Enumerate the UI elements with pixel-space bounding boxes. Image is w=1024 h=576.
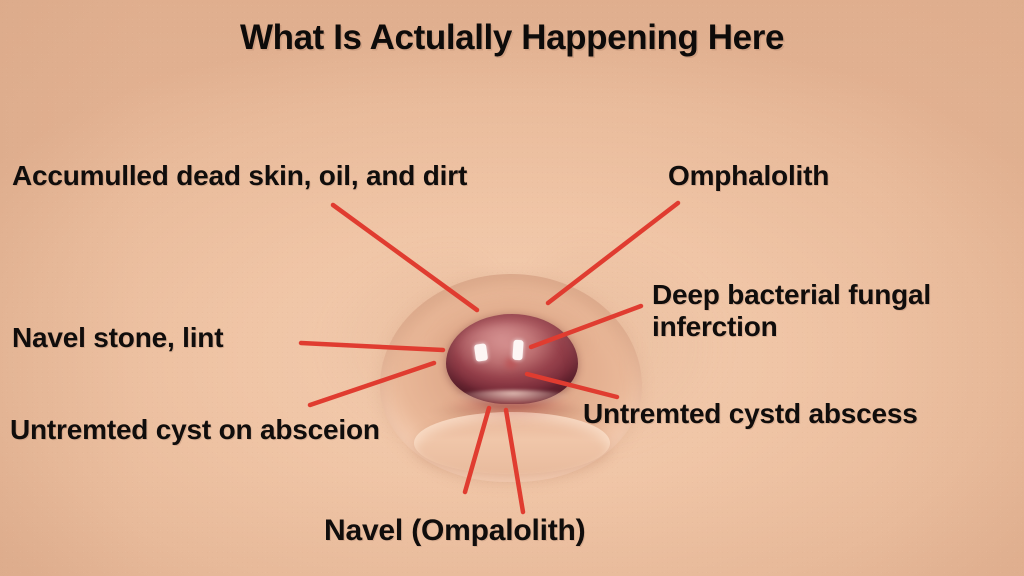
label-omphalolith: Omphalolith [668, 160, 829, 192]
navel-photograph [372, 262, 650, 492]
page-title: What Is Actulally Happening Here [0, 18, 1024, 58]
dome-lower-lip [452, 390, 574, 406]
label-untreated-cyst-abscess-right: Untremted cystd abscess [583, 398, 918, 430]
label-navel-stone-lint: Navel stone, lint [12, 322, 223, 354]
dome-highlight-left [474, 343, 488, 362]
label-accumulled-dead-skin: Accumulled dead skin, oil, and dirt [12, 160, 467, 192]
label-untreated-cyst-abscess-left: Untremted cyst on absceion [10, 414, 380, 446]
infographic-canvas: What Is Actulally Happening Here Accumul… [0, 0, 1024, 576]
dome-highlight-right [512, 340, 523, 361]
label-navel-ompalolith: Navel (Ompalolith) [324, 514, 585, 548]
label-deep-bacterial-fungal-infection: Deep bacterial fungal inferction [652, 279, 1024, 343]
